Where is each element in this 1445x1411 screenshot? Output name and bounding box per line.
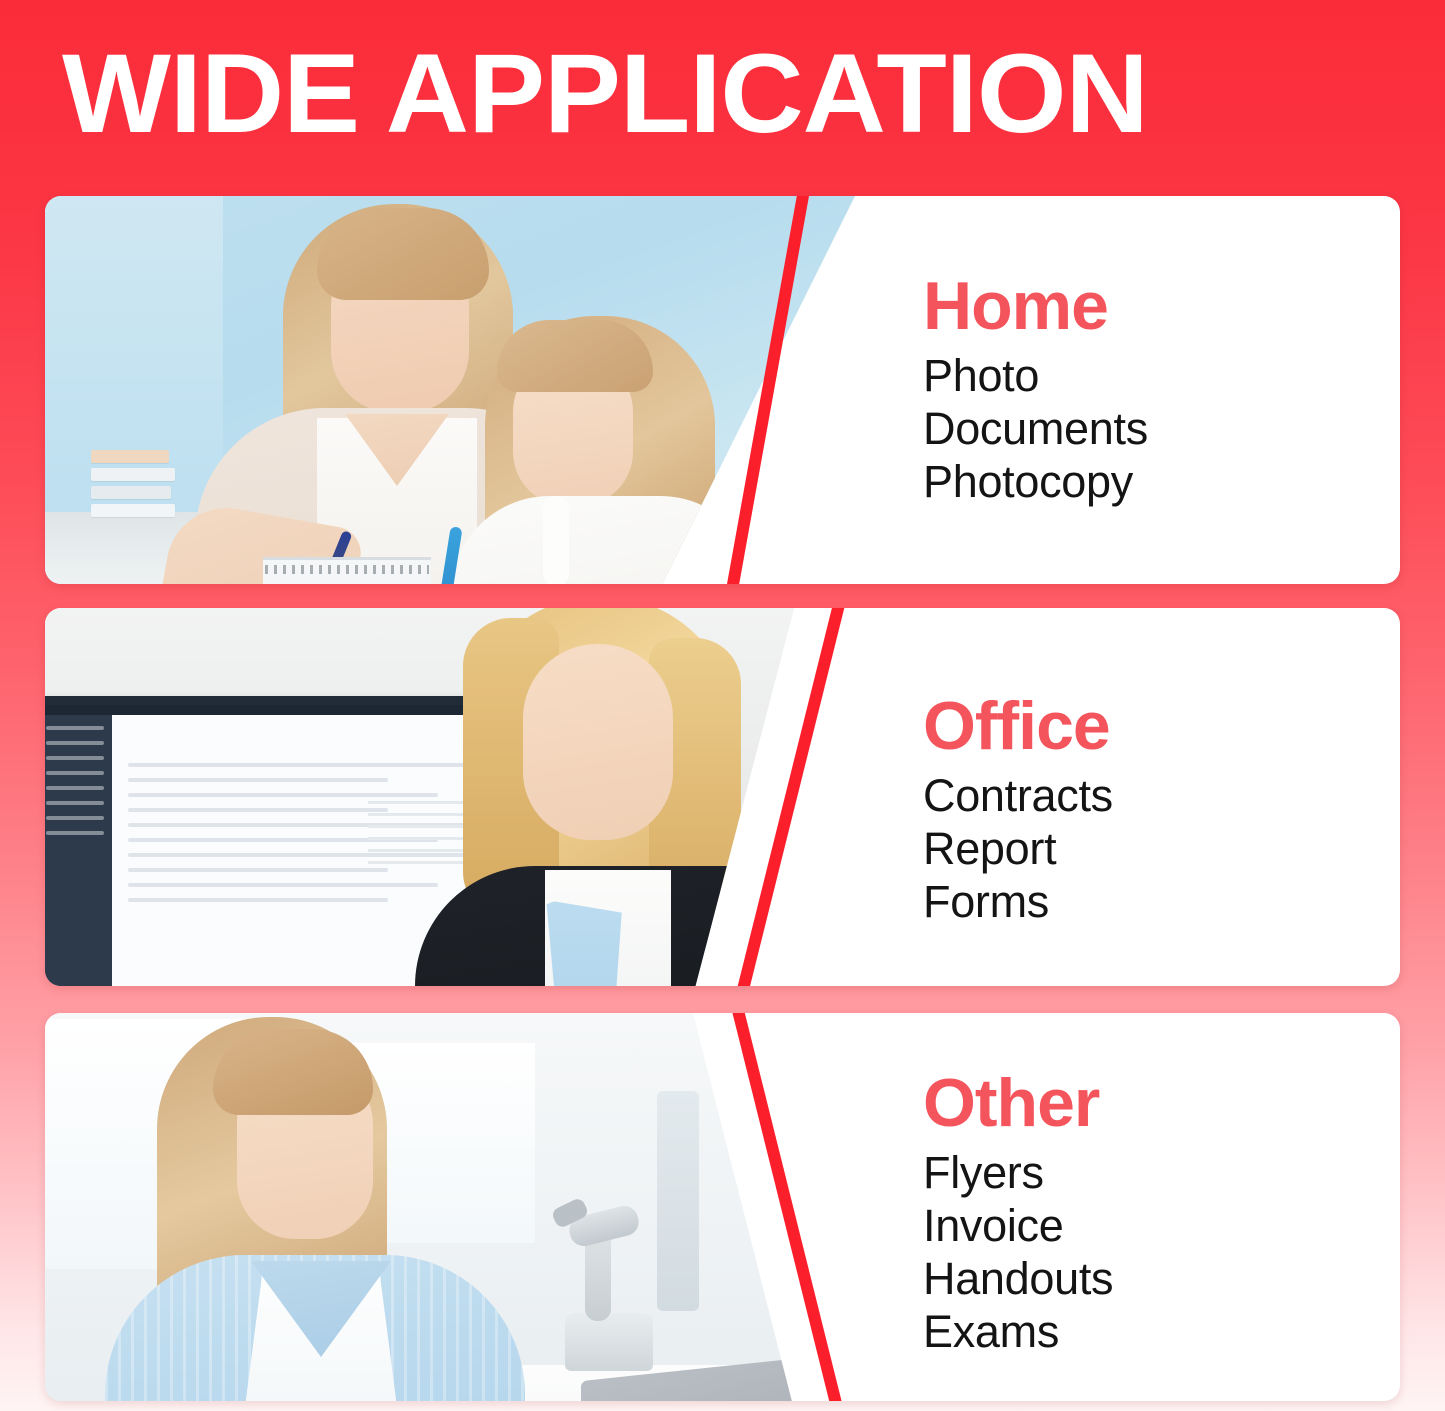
lab-scene-illustration: [45, 1013, 855, 1401]
monitor-side-column: [368, 801, 476, 873]
list-item: Documents: [923, 402, 1400, 455]
card-heading-other: Other: [923, 1066, 1400, 1140]
list-item: Report: [923, 822, 1400, 875]
list-item: Flyers: [923, 1146, 1400, 1199]
card-text-office: Office Contracts Report Forms: [880, 608, 1400, 986]
page-title: WIDE APPLICATION: [62, 38, 1148, 150]
application-card-office: Office Contracts Report Forms: [45, 608, 1400, 986]
card-photo-home: [45, 196, 855, 584]
title-banner: WIDE APPLICATION: [0, 0, 1445, 175]
application-card-other: Other Flyers Invoice Handouts Exams: [45, 1013, 1400, 1401]
home-notebook-spiral: [265, 565, 429, 574]
list-item: Contracts: [923, 769, 1400, 822]
card-heading-office: Office: [923, 689, 1400, 763]
home-child-strap: [543, 496, 569, 584]
home-adult-fringe: [317, 208, 489, 300]
office-scene-illustration: [45, 608, 855, 986]
lab-woman-fringe: [213, 1029, 373, 1115]
card-photo-other: [45, 1013, 855, 1401]
list-item: Handouts: [923, 1252, 1400, 1305]
office-chair: [705, 890, 845, 986]
list-item: Photocopy: [923, 455, 1400, 508]
list-item: Exams: [923, 1305, 1400, 1358]
microscope-base: [565, 1313, 653, 1371]
card-photo-office: [45, 608, 855, 986]
list-item: Invoice: [923, 1199, 1400, 1252]
list-item: Forms: [923, 875, 1400, 928]
home-scene-illustration: [45, 196, 855, 584]
home-child-fringe: [497, 320, 653, 392]
application-card-home: Home Photo Documents Photocopy: [45, 196, 1400, 584]
card-list-other: Flyers Invoice Handouts Exams: [923, 1146, 1400, 1358]
card-text-other: Other Flyers Invoice Handouts Exams: [880, 1013, 1400, 1401]
card-list-home: Photo Documents Photocopy: [923, 349, 1400, 508]
card-list-office: Contracts Report Forms: [923, 769, 1400, 928]
card-heading-home: Home: [923, 269, 1400, 343]
card-text-home: Home Photo Documents Photocopy: [880, 196, 1400, 584]
lab-shelf: [657, 1091, 699, 1311]
wide-application-poster: WIDE APPLICATION: [0, 0, 1445, 1411]
home-books: [91, 450, 175, 520]
list-item: Photo: [923, 349, 1400, 402]
office-woman-face: [523, 644, 673, 840]
monitor-screen-sidebar: [45, 715, 112, 986]
